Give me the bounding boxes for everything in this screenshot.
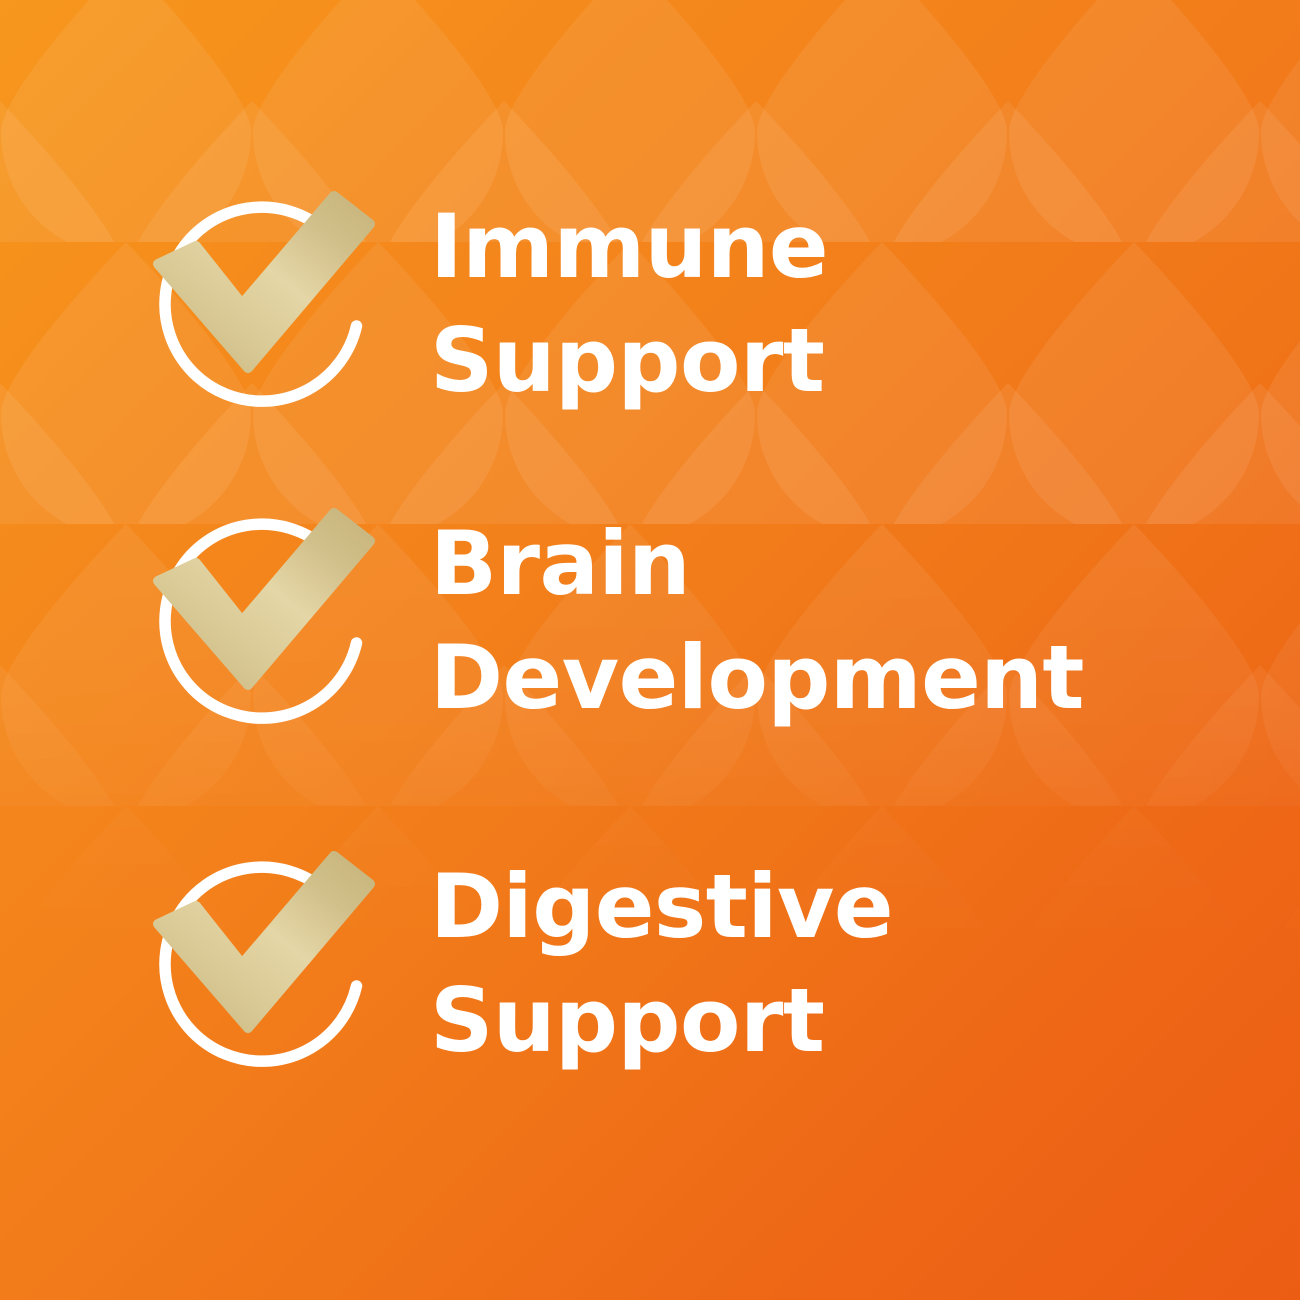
benefit-label: Brain Development bbox=[430, 507, 1084, 736]
check-circle-icon bbox=[148, 503, 378, 733]
list-item: Digestive Support bbox=[0, 846, 1300, 1079]
benefits-panel: Immune Support bbox=[0, 0, 1300, 1300]
check-circle-icon bbox=[148, 846, 378, 1076]
list-item: Immune Support bbox=[0, 186, 1300, 419]
benefit-label: Digestive Support bbox=[430, 850, 893, 1079]
list-item: Brain Development bbox=[0, 503, 1300, 736]
benefit-list: Immune Support bbox=[0, 0, 1300, 1300]
benefit-label: Immune Support bbox=[430, 190, 828, 419]
check-circle-icon bbox=[148, 186, 378, 416]
